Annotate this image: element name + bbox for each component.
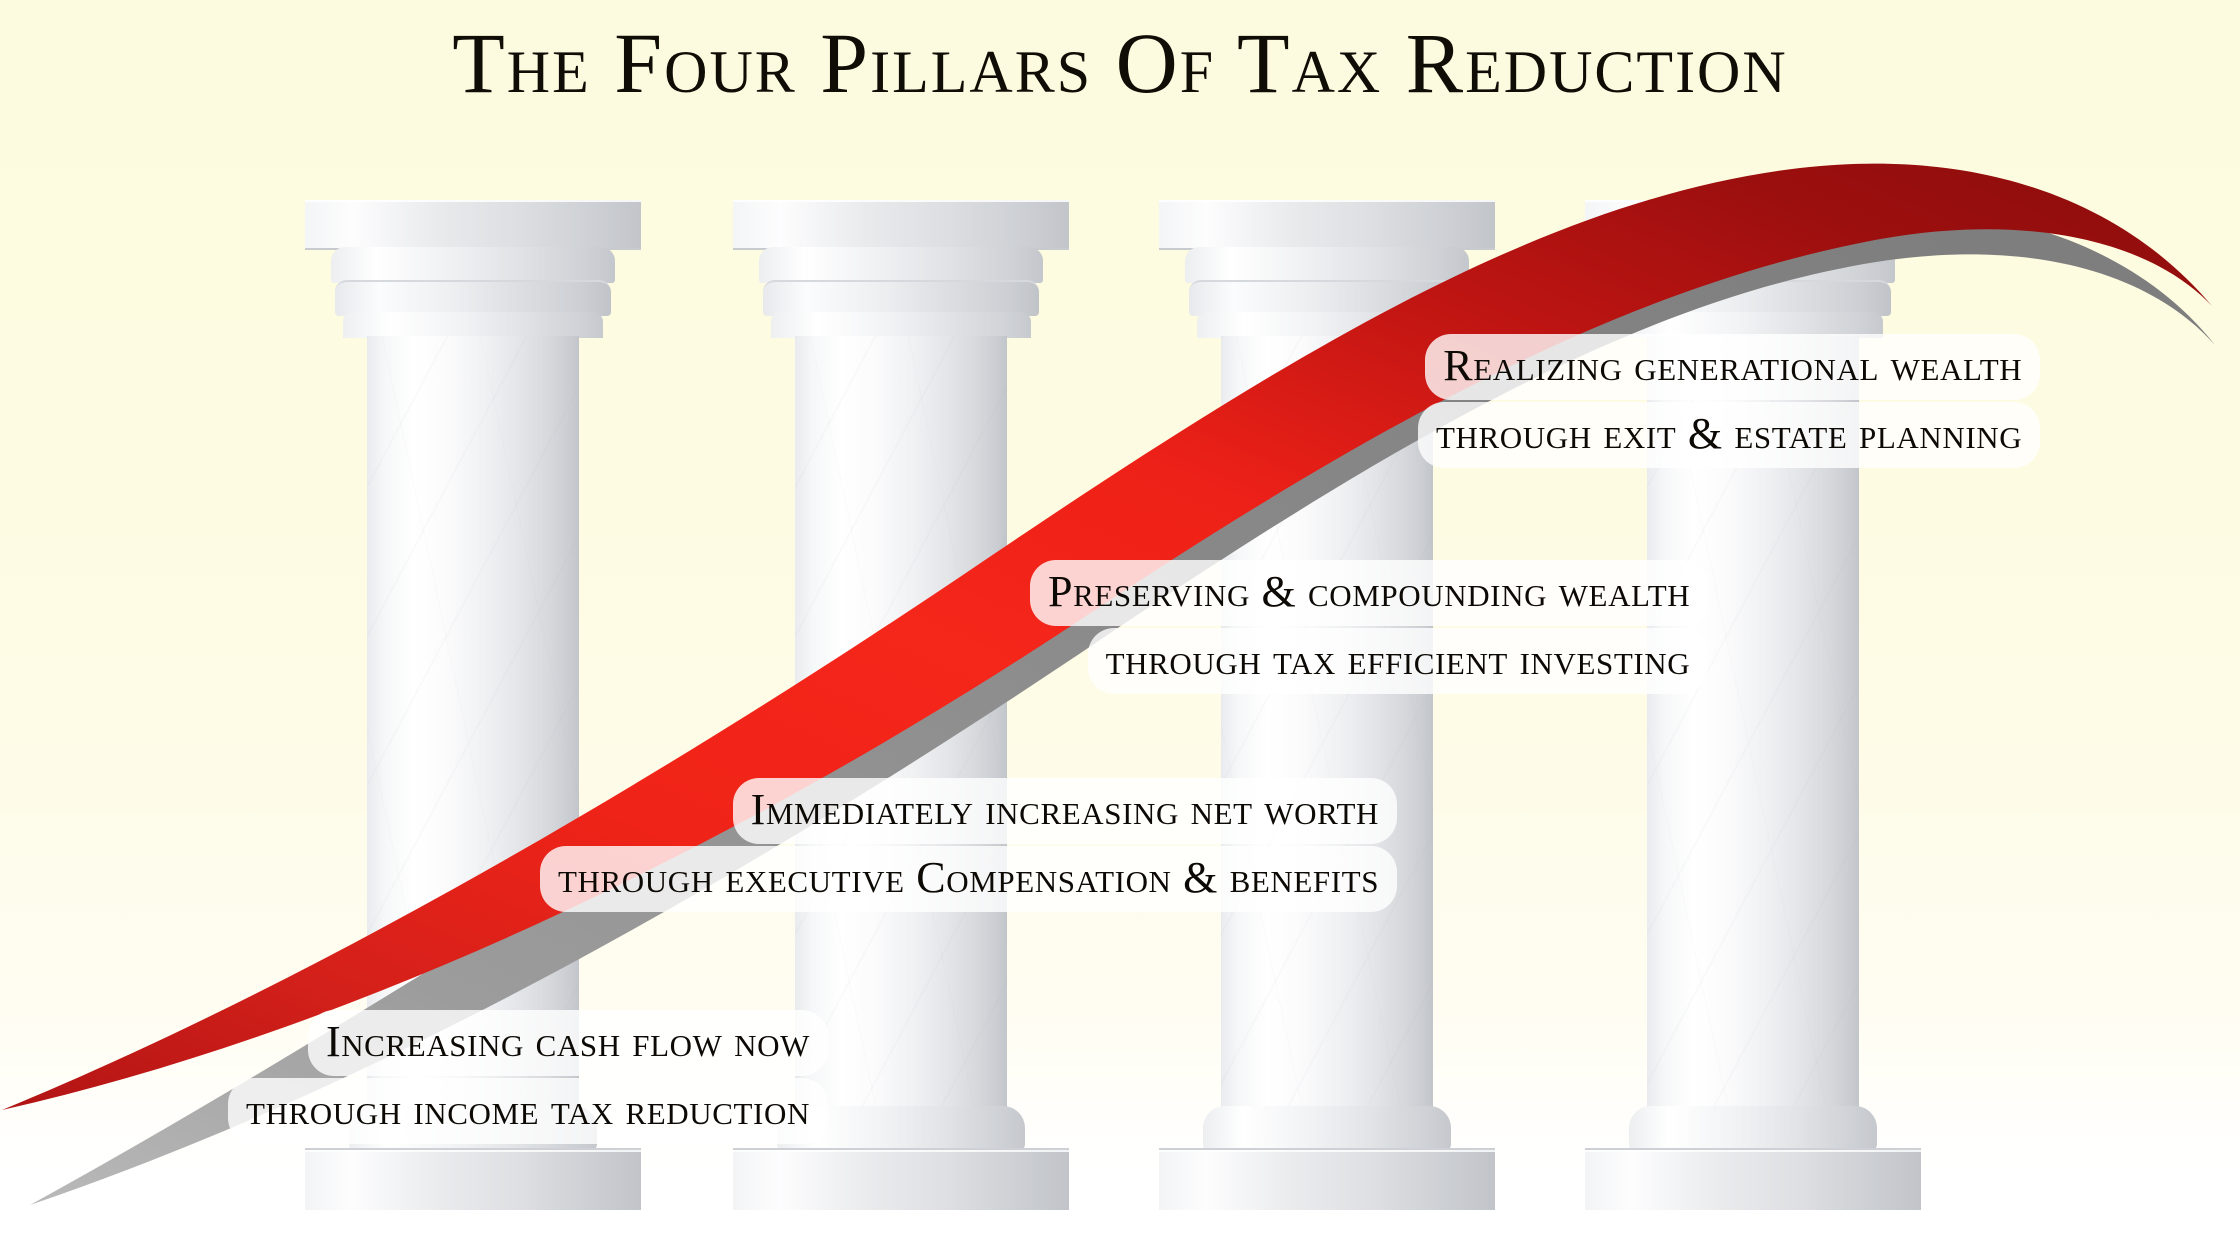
pillar-capital-neck — [771, 312, 1031, 338]
pillar-label-preserving-wealth: Preserving & compounding wealth through … — [1030, 560, 1708, 694]
pillar-base-plinth — [1159, 1148, 1495, 1210]
pillar-shaft — [367, 336, 579, 1110]
pillar-capital-echinus-lower — [1615, 280, 1891, 316]
label-line-2: through income tax reduction — [228, 1078, 828, 1144]
pillar-shaft — [795, 336, 1007, 1110]
pillar-base-plinth — [305, 1148, 641, 1210]
pillar-capital-echinus-lower — [335, 280, 611, 316]
pillar-capital-abacus — [733, 200, 1069, 250]
page-title: The Four Pillars Of Tax Reduction — [0, 18, 2240, 108]
pillar-capital-echinus-lower — [1189, 280, 1465, 316]
pillar-capital-echinus-lower — [763, 280, 1039, 316]
pillar-shaft — [1221, 336, 1433, 1110]
label-line-1: Preserving & compounding wealth — [1030, 560, 1708, 626]
label-line-2: through executive Compensation & benefit… — [540, 846, 1397, 912]
label-line-1: Immediately increasing net worth — [733, 778, 1397, 844]
pillar-base-torus — [1203, 1106, 1451, 1152]
pillar-capital-abacus — [305, 200, 641, 250]
pillar-capital-neck — [343, 312, 603, 338]
pillar-capital-echinus — [331, 247, 615, 283]
label-line-2: through exit & estate planning — [1418, 402, 2040, 468]
pillar-capital-abacus — [1585, 200, 1921, 250]
pillar-capital-abacus — [1159, 200, 1495, 250]
pillar-label-generational-wealth: Realizing generational wealth through ex… — [1418, 334, 2040, 468]
pillar-label-increasing-net-worth: Immediately increasing net worth through… — [540, 778, 1397, 912]
pillar-base-plinth — [733, 1148, 1069, 1210]
pillar-capital-echinus — [759, 247, 1043, 283]
pillar-base-torus — [1629, 1106, 1877, 1152]
label-line-2: through tax efficient investing — [1088, 628, 1709, 694]
pillar-capital-echinus — [1611, 247, 1895, 283]
slide-canvas: The Four Pillars Of Tax Reduction Increa… — [0, 0, 2240, 1260]
pillar-capital-echinus — [1185, 247, 1469, 283]
pillar-label-increasing-cash-flow: Increasing cash flow now through income … — [228, 1010, 828, 1144]
label-line-1: Increasing cash flow now — [308, 1010, 828, 1076]
pillar-base-plinth — [1585, 1148, 1921, 1210]
label-line-1: Realizing generational wealth — [1425, 334, 2040, 400]
